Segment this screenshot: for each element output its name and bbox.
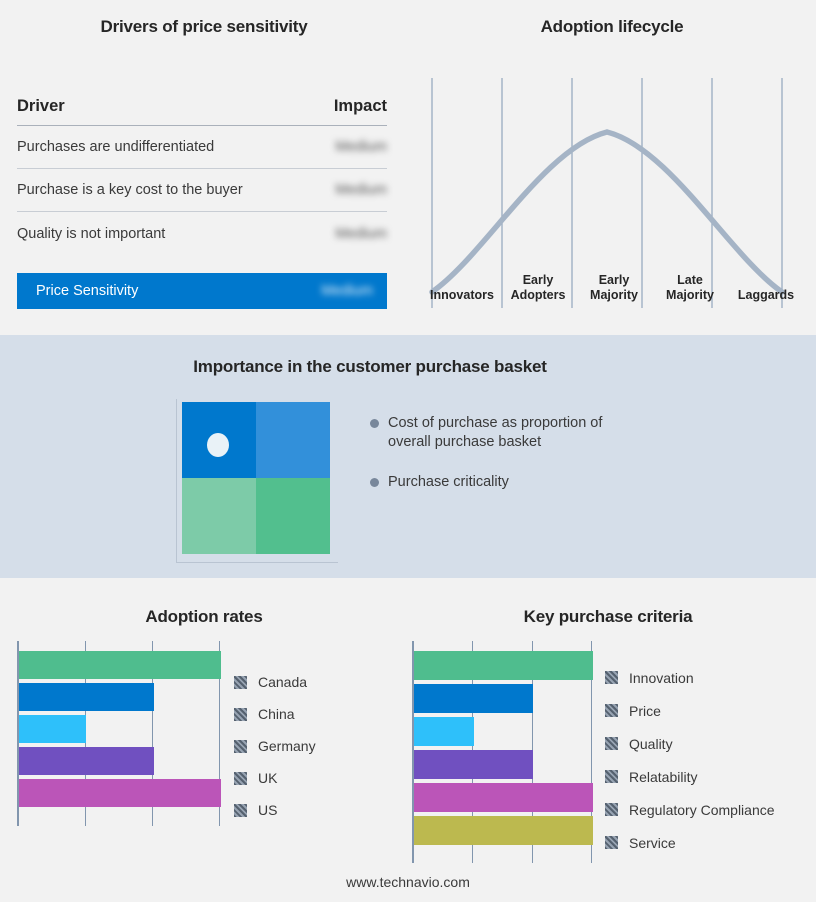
lifecycle-segment-labels: Innovators EarlyAdopters EarlyMajority L… <box>424 258 804 306</box>
bar-quality <box>414 717 474 746</box>
table-header-row: Driver Impact <box>17 88 387 126</box>
bar-service <box>414 816 593 845</box>
bar-regulatory-compliance <box>414 783 593 812</box>
driver-label: Purchase is a key cost to the buyer <box>17 182 243 198</box>
basket-title: Importance in the customer purchase bask… <box>0 357 740 377</box>
legend-label: Cost of purchase as proportion of overal… <box>388 414 638 452</box>
lifecycle-label-innovators: Innovators <box>424 258 500 306</box>
purchase-basket-panel: Importance in the customer purchase bask… <box>0 335 816 578</box>
bar-series <box>19 651 221 817</box>
bar-germany <box>19 715 86 743</box>
legend-item[interactable]: Service <box>605 826 775 859</box>
table-row: Purchases are undifferentiated Medium <box>17 126 387 169</box>
basket-legend: Cost of purchase as proportion of overal… <box>370 414 670 513</box>
adoption-lifecycle-panel: Adoption lifecycle Innovators EarlyAdopt… <box>408 0 816 335</box>
impact-value: Medium <box>307 139 387 155</box>
legend-label: Regulatory Compliance <box>629 802 775 818</box>
quadrant-bottom-left <box>182 478 256 554</box>
legend-item[interactable]: Canada <box>234 666 316 698</box>
quadrant-bottom-right <box>256 478 330 554</box>
key-purchase-criteria-chart <box>412 641 592 863</box>
lifecycle-title: Adoption lifecycle <box>408 17 816 37</box>
drivers-panel: Drivers of price sensitivity Driver Impa… <box>0 0 408 335</box>
lifecycle-label-early-majority: EarlyMajority <box>576 258 652 306</box>
legend-item[interactable]: US <box>234 794 316 826</box>
bar-china <box>19 683 154 711</box>
plot-area <box>412 641 592 863</box>
bar-series <box>414 651 593 855</box>
bullet-dot-icon <box>370 419 379 428</box>
lifecycle-label-early-adopters: EarlyAdopters <box>500 258 576 306</box>
key-purchase-criteria-legend: InnovationPriceQualityRelatabilityRegula… <box>605 661 775 859</box>
plot-area <box>17 641 222 826</box>
legend-label: China <box>258 706 295 722</box>
impact-value: Medium <box>307 182 387 198</box>
hatched-square-icon <box>234 804 247 817</box>
legend-label: Quality <box>629 736 673 752</box>
legend-item[interactable]: Price <box>605 694 775 727</box>
legend-label: Innovation <box>629 670 694 686</box>
bar-us <box>19 779 221 807</box>
legend-label: Service <box>629 835 676 851</box>
bar-innovation <box>414 651 593 680</box>
legend-item: Cost of purchase as proportion of overal… <box>370 414 670 452</box>
quadrant-matrix-wrapper <box>176 399 338 563</box>
drivers-title: Drivers of price sensitivity <box>0 17 408 37</box>
bar-row <box>414 750 593 779</box>
footer-url: www.technavio.com <box>0 874 816 890</box>
summary-label: Price Sensitivity <box>36 283 138 299</box>
bar-row <box>414 816 593 845</box>
lifecycle-label-laggards: Laggards <box>728 258 804 306</box>
adoption-rates-legend: CanadaChinaGermanyUKUS <box>234 666 316 826</box>
legend-label: Germany <box>258 738 316 754</box>
legend-label: Price <box>629 703 661 719</box>
lifecycle-label-late-majority: LateMajority <box>652 258 728 306</box>
driver-label: Purchases are undifferentiated <box>17 139 214 155</box>
legend-label: US <box>258 802 277 818</box>
legend-item[interactable]: Quality <box>605 727 775 760</box>
bar-row <box>414 783 593 812</box>
legend-label: Relatability <box>629 769 697 785</box>
adoption-rates-title: Adoption rates <box>0 607 408 627</box>
hatched-square-icon <box>605 836 618 849</box>
bullet-dot-icon <box>370 478 379 487</box>
table-row: Purchase is a key cost to the buyer Medi… <box>17 169 387 212</box>
drivers-table: Driver Impact Purchases are undifferenti… <box>17 88 387 309</box>
hatched-square-icon <box>605 803 618 816</box>
legend-item[interactable]: Germany <box>234 730 316 762</box>
legend-label: Canada <box>258 674 307 690</box>
legend-item[interactable]: Innovation <box>605 661 775 694</box>
legend-item[interactable]: Regulatory Compliance <box>605 793 775 826</box>
bar-relatability <box>414 750 533 779</box>
bar-row <box>19 747 221 775</box>
bar-row <box>19 715 221 743</box>
bar-row <box>19 779 221 807</box>
column-header-impact: Impact <box>307 97 387 116</box>
quadrant-top-right <box>256 402 330 478</box>
quadrant-matrix-frame <box>176 399 338 563</box>
impact-value: Medium <box>307 226 387 242</box>
bar-uk <box>19 747 154 775</box>
bar-canada <box>19 651 221 679</box>
legend-item[interactable]: UK <box>234 762 316 794</box>
hatched-square-icon <box>605 737 618 750</box>
bar-row <box>414 717 593 746</box>
legend-label: UK <box>258 770 277 786</box>
hatched-square-icon <box>234 772 247 785</box>
bar-row <box>19 683 221 711</box>
position-marker-dot <box>207 433 229 457</box>
bar-row <box>19 651 221 679</box>
hatched-square-icon <box>234 708 247 721</box>
price-sensitivity-summary-row: Price Sensitivity Medium <box>17 273 387 309</box>
bar-row <box>414 684 593 713</box>
legend-label: Purchase criticality <box>388 473 509 492</box>
bar-row <box>414 651 593 680</box>
hatched-square-icon <box>605 704 618 717</box>
hatched-square-icon <box>234 676 247 689</box>
key-purchase-criteria-panel: Key purchase criteria InnovationPriceQua… <box>400 578 816 902</box>
quadrant-matrix <box>182 402 330 554</box>
adoption-rates-panel: Adoption rates CanadaChinaGermanyUKUS <box>0 578 408 902</box>
driver-label: Quality is not important <box>17 226 165 242</box>
legend-item: Purchase criticality <box>370 473 670 492</box>
table-row: Quality is not important Medium <box>17 212 387 255</box>
legend-item[interactable]: Relatability <box>605 760 775 793</box>
adoption-rates-chart <box>17 641 222 826</box>
legend-item[interactable]: China <box>234 698 316 730</box>
hatched-square-icon <box>605 770 618 783</box>
summary-impact-value: Medium <box>293 283 373 299</box>
bar-price <box>414 684 533 713</box>
column-header-driver: Driver <box>17 97 65 116</box>
hatched-square-icon <box>234 740 247 753</box>
hatched-square-icon <box>605 671 618 684</box>
key-purchase-criteria-title: Key purchase criteria <box>400 607 816 627</box>
